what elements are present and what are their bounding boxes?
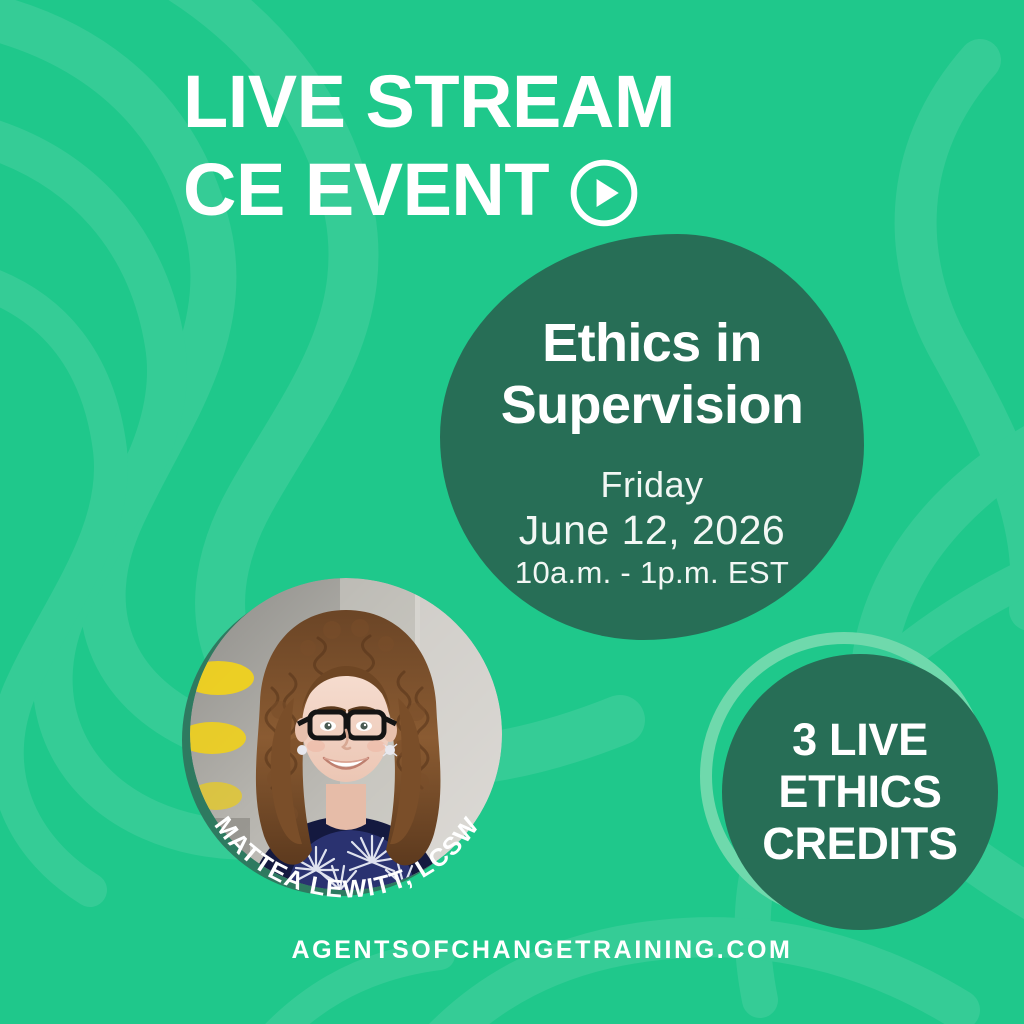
website-url: AGENTSOFCHANGETRAINING.COM	[0, 936, 1024, 965]
credits-badge: 3 LIVE ETHICS CREDITS	[700, 632, 1010, 942]
credits-line-3: CREDITS	[762, 818, 957, 869]
headline-line-2: CE EVENT	[183, 146, 675, 234]
event-title-line-1: Ethics in	[542, 313, 762, 373]
headline: LIVE STREAM CE EVENT	[183, 58, 675, 234]
presenter-photo	[190, 578, 502, 890]
credits-badge-circle: 3 LIVE ETHICS CREDITS	[722, 654, 998, 930]
play-circle-icon	[567, 156, 641, 230]
credits-line-1: 3 LIVE	[792, 714, 928, 765]
headline-line-1: LIVE STREAM	[183, 58, 675, 146]
event-title: Ethics in Supervision	[501, 312, 803, 436]
event-day: Friday	[515, 464, 789, 506]
event-title-line-2: Supervision	[501, 375, 803, 435]
event-schedule: Friday June 12, 2026 10a.m. - 1p.m. EST	[515, 464, 789, 592]
headline-line-2-label: CE EVENT	[183, 146, 549, 234]
credits-badge-text: 3 LIVE ETHICS CREDITS	[762, 714, 957, 870]
presenter-block: MATTEA LEWITT, LCSW	[178, 568, 508, 908]
credits-line-2: ETHICS	[778, 766, 941, 817]
live-stream-ce-event-poster: LIVE STREAM CE EVENT Ethics in Supervisi…	[0, 0, 1024, 1024]
event-date: June 12, 2026	[515, 506, 789, 554]
event-time: 10a.m. - 1p.m. EST	[515, 554, 789, 592]
